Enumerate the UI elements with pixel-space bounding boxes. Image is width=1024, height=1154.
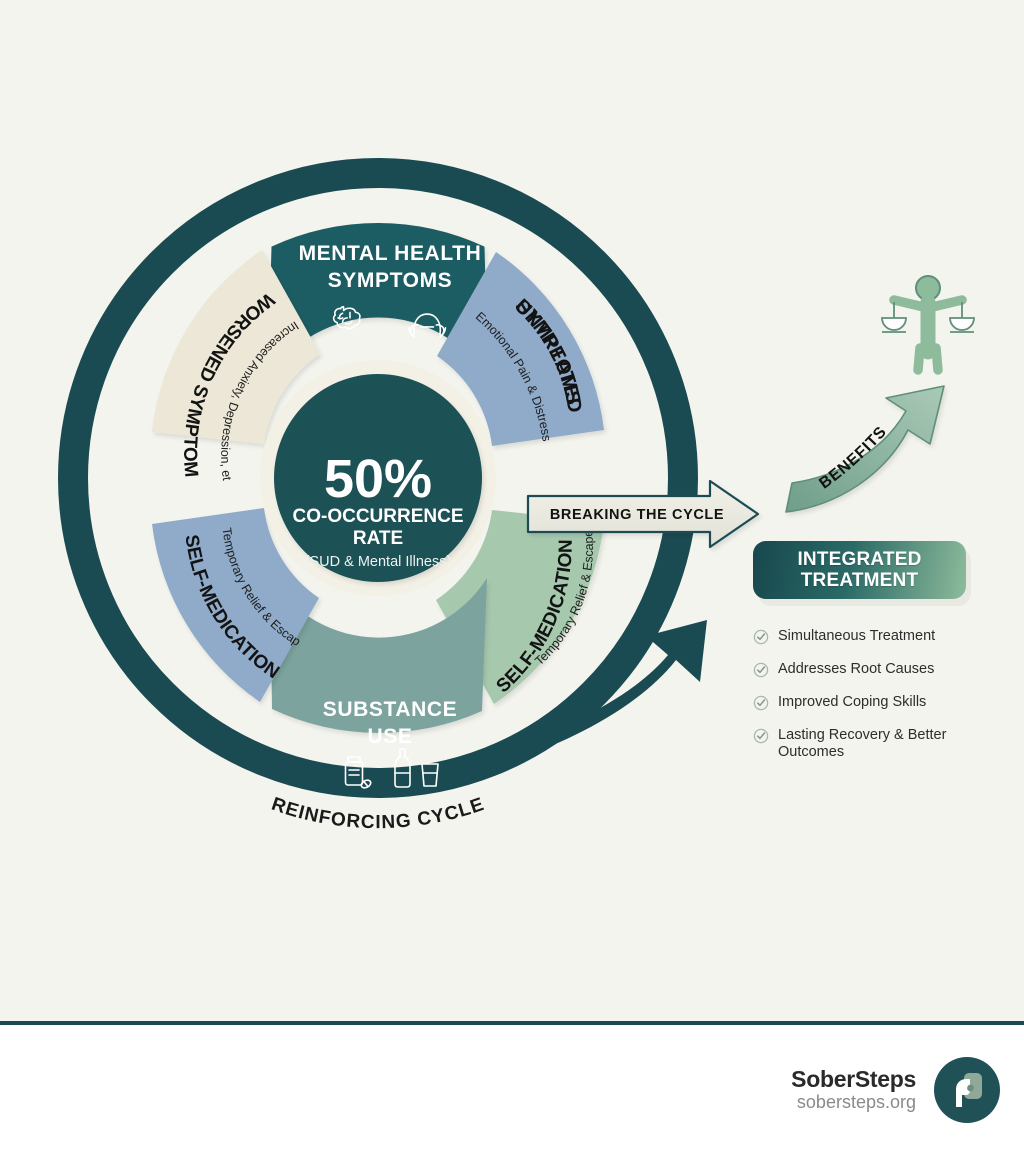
check-circle-icon: [753, 728, 769, 749]
integrated-treatment-title-line2: TREATMENT: [797, 570, 921, 591]
person-balance-scales-icon: [882, 276, 974, 370]
sobersteps-logo-icon: [934, 1057, 1000, 1123]
cycle-diagram-svg: 50% CO-OCCURRENCE RATE (SUD & Mental Ill…: [0, 0, 1024, 1023]
infographic-page: 50% CO-OCCURRENCE RATE (SUD & Mental Ill…: [0, 0, 1024, 1154]
segment-label-substance-use-line2: USE: [368, 725, 413, 748]
reinforcing-cycle-label: REINFORCING CYCLE: [269, 794, 488, 833]
integrated-treatment-title: INTEGRATED TREATMENT: [797, 549, 921, 592]
segment-label-substance-use-line1: SUBSTANCE: [323, 698, 458, 721]
integrated-treatment-title-line1: INTEGRATED: [797, 549, 921, 570]
integrated-treatment-card[interactable]: INTEGRATED TREATMENT: [753, 541, 966, 599]
center-stat-title-line2: RATE: [353, 528, 403, 549]
segment-label-mental-health-line1: MENTAL HEALTH: [299, 242, 482, 265]
center-stat-value: 50%: [324, 449, 432, 509]
treatment-benefits-list: Simultaneous Treatment Addresses Root Ca…: [753, 628, 998, 773]
segment-label-mental-health-line2: SYMPTOMS: [328, 269, 453, 292]
benefit-label: Simultaneous Treatment: [778, 628, 935, 645]
page-footer: SoberSteps sobersteps.org: [0, 1025, 1024, 1154]
benefit-item[interactable]: Lasting Recovery & Better Outcomes: [753, 727, 998, 762]
benefit-item[interactable]: Simultaneous Treatment: [753, 628, 998, 650]
breaking-the-cycle-label: BREAKING THE CYCLE: [550, 507, 724, 523]
benefit-label: Addresses Root Causes: [778, 661, 934, 678]
check-circle-icon: [753, 629, 769, 650]
check-circle-icon: [753, 662, 769, 683]
center-stat-subtitle: (SUD & Mental Illness): [305, 554, 452, 570]
benefit-label: Improved Coping Skills: [778, 694, 926, 711]
benefit-label: Lasting Recovery & Better Outcomes: [778, 727, 998, 762]
benefit-item[interactable]: Addresses Root Causes: [753, 661, 998, 683]
benefit-item[interactable]: Improved Coping Skills: [753, 694, 998, 716]
diagram-canvas: 50% CO-OCCURRENCE RATE (SUD & Mental Ill…: [0, 0, 1024, 1023]
center-stat-title-line1: CO-OCCURRENCE: [293, 506, 464, 527]
check-circle-icon: [753, 695, 769, 716]
brand-text: SoberSteps sobersteps.org: [791, 1066, 916, 1113]
brand-url[interactable]: sobersteps.org: [791, 1092, 916, 1113]
brand-name: SoberSteps: [791, 1066, 916, 1092]
